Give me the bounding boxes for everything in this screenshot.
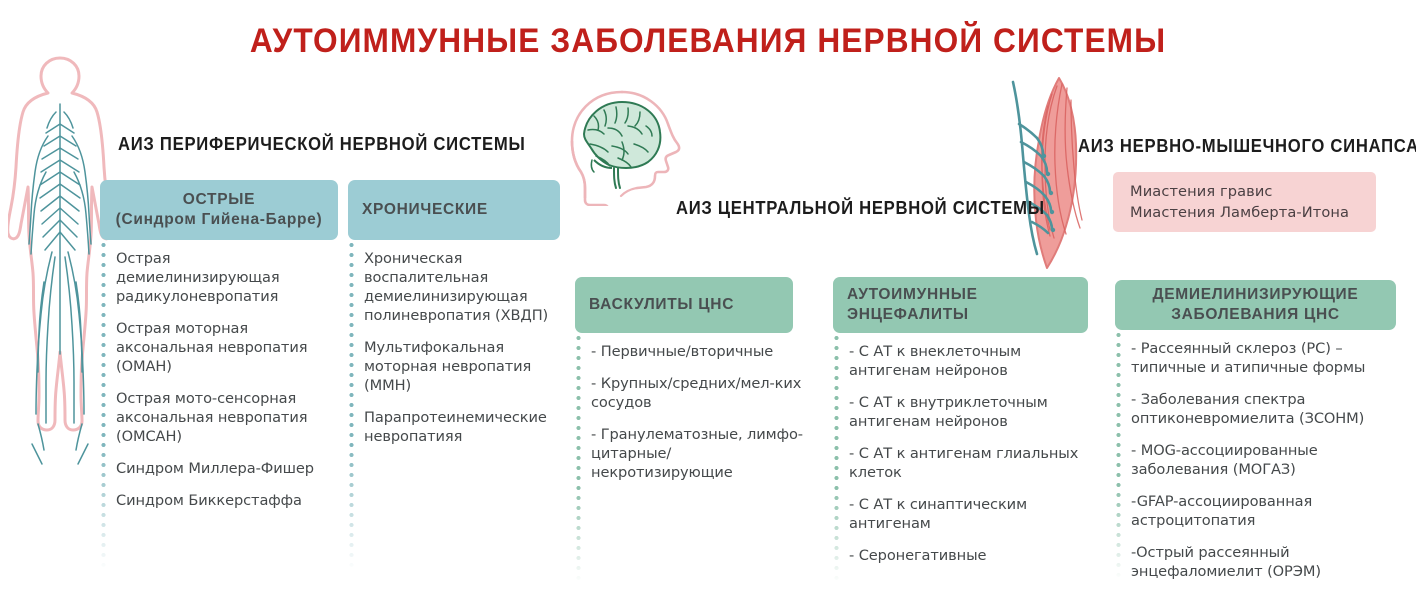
column-header-acute-line2: (Синдром Гийена-Барре) [116, 210, 323, 230]
muscle-nerve-synapse-icon [1005, 72, 1105, 285]
column-header-acute: ОСТРЫЕ (Синдром Гийена-Барре) [100, 180, 338, 240]
column-header-demyelinating-line2: ЗАБОЛЕВАНИЯ ЦНС [1171, 305, 1340, 325]
human-nervous-system-figure-icon [8, 52, 112, 527]
list-item: -GFAP-ассоциированная астроцитопатия [1131, 493, 1396, 531]
list-item: - Рассеянный склероз (РС) – типичные и а… [1131, 340, 1396, 378]
list-item: Мультифокальная моторная невропатия (ММН… [364, 339, 560, 396]
section-heading-central: АИЗ ЦЕНТРАЛЬНОЙ НЕРВНОЙ СИСТЕМЫ [676, 197, 1045, 219]
list-item: - С АТ к внеклеточным антигенам нейронов [849, 343, 1101, 381]
list-item: Острая демиелинизирующая радикулоневропа… [116, 250, 338, 307]
section-heading-peripheral: АИЗ ПЕРИФЕРИЧЕСКОЙ НЕРВНОЙ СИСТЕМЫ [118, 133, 525, 155]
list-item: - Крупных/средних/мел-ких сосудов [591, 375, 805, 413]
column-header-encephalitis-line1: АУТОИМУННЫЕ ЭНЦЕФАЛИТЫ [847, 285, 1088, 325]
section-heading-neuromuscular: АИЗ НЕРВНО-МЫШЕЧНОГО СИНАПСА [1078, 135, 1416, 157]
column-header-vasculitis: ВАСКУЛИТЫ ЦНС [575, 277, 793, 333]
list-item: - С АТ к антигенам глиальных клеток [849, 445, 1101, 483]
column-vasculitis: ВАСКУЛИТЫ ЦНС - Первичные/вторичные - Кр… [575, 277, 793, 583]
list-item: Синдром Биккерстаффа [116, 492, 338, 511]
list-item: - MOG-ассоциированные заболевания (МОГАЗ… [1131, 442, 1396, 480]
list-item: - С АТ к синаптическим антигенам [849, 496, 1101, 534]
list-item: - С АТ к внутриклеточным антигенам нейро… [849, 394, 1101, 432]
column-header-chronic-line1: ХРОНИЧЕСКИЕ [362, 200, 560, 220]
column-chronic: ХРОНИЧЕСКИЕ Хроническая воспалительная д… [348, 180, 560, 570]
myasthenia-box: Миастения гравис Миастения Ламберта-Итон… [1113, 172, 1376, 232]
column-body-demyelinating: - Рассеянный склероз (РС) – типичные и а… [1115, 330, 1396, 580]
column-encephalitis: АУТОИМУННЫЕ ЭНЦЕФАЛИТЫ - С АТ к внеклето… [833, 277, 1088, 583]
myasthenia-line-gravis: Миастения гравис [1130, 181, 1376, 202]
column-body-chronic: Хроническая воспалительная демиелинизиру… [348, 240, 560, 570]
list-item: Парапротеинемические невропатияя [364, 409, 560, 447]
list-item: -Острый рассеянный энцефаломиелит (ОРЭМ) [1131, 544, 1396, 582]
column-header-demyelinating-line1: ДЕМИЕЛИНИЗИРУЮЩИЕ [1153, 285, 1359, 305]
column-header-encephalitis: АУТОИМУННЫЕ ЭНЦЕФАЛИТЫ [833, 277, 1088, 333]
column-header-acute-line1: ОСТРЫЕ [183, 190, 255, 210]
column-body-vasculitis: - Первичные/вторичные - Крупных/средних/… [575, 333, 805, 583]
infographic-poster: АУТОИММУННЫЕ ЗАБОЛЕВАНИЯ НЕРВНОЙ СИСТЕМЫ [0, 0, 1416, 602]
myasthenia-line-lambert-eaton: Миастения Ламберта-Итона [1130, 202, 1376, 223]
column-demyelinating: ДЕМИЕЛИНИЗИРУЮЩИЕ ЗАБОЛЕВАНИЯ ЦНС - Расс… [1115, 280, 1396, 580]
column-body-encephalitis: - С АТ к внеклеточным антигенам нейронов… [833, 333, 1101, 583]
list-item: - Серонегативные [849, 547, 1101, 566]
list-item: Острая моторная аксональная невропатия (… [116, 320, 338, 377]
column-body-acute: Острая демиелинизирующая радикулоневропа… [100, 240, 338, 570]
column-header-chronic: ХРОНИЧЕСКИЕ [348, 180, 560, 240]
list-item: Хроническая воспалительная демиелинизиру… [364, 250, 560, 326]
page-title: АУТОИММУННЫЕ ЗАБОЛЕВАНИЯ НЕРВНОЙ СИСТЕМЫ [50, 22, 1367, 61]
list-item: - Заболевания спектра оптиконевромиелита… [1131, 391, 1396, 429]
column-header-vasculitis-line1: ВАСКУЛИТЫ ЦНС [589, 295, 793, 315]
column-acute: ОСТРЫЕ (Синдром Гийена-Барре) Острая дем… [100, 180, 338, 570]
list-item: Острая мото-сенсорная аксональная невроп… [116, 390, 338, 447]
list-item: Синдром Миллера-Фишер [116, 460, 338, 479]
list-item: - Гранулематозные, лимфо-цитарные/ некро… [591, 426, 805, 483]
list-item: - Первичные/вторичные [591, 343, 805, 362]
column-header-demyelinating: ДЕМИЕЛИНИЗИРУЮЩИЕ ЗАБОЛЕВАНИЯ ЦНС [1115, 280, 1396, 330]
head-brain-profile-icon [562, 88, 690, 211]
